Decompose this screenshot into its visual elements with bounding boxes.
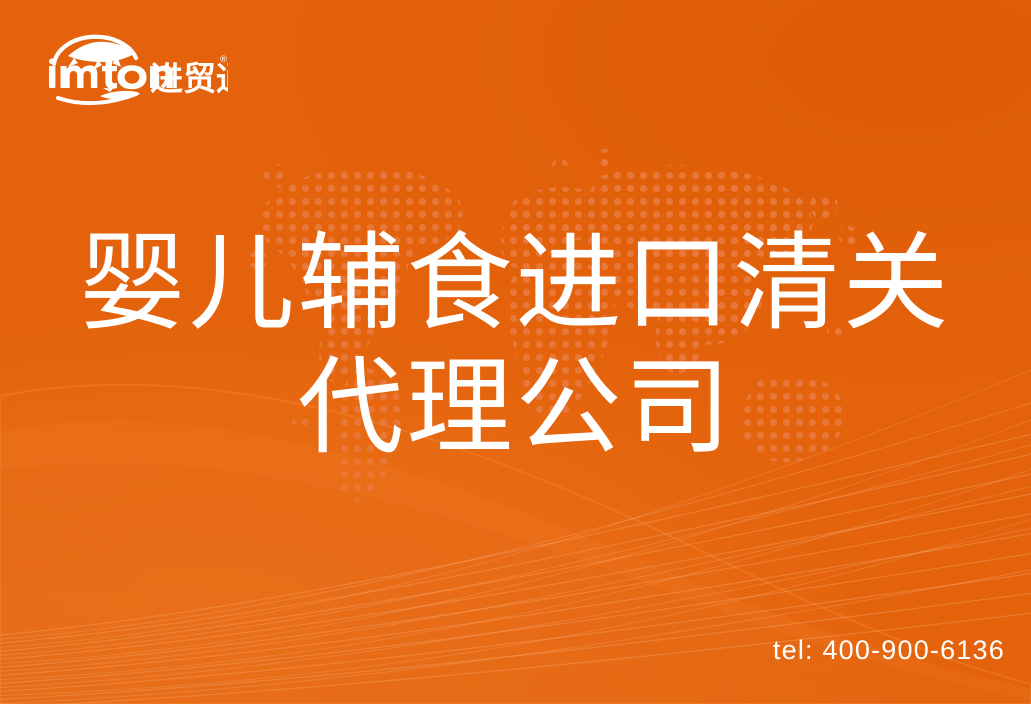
imton-logo[interactable]: 进贸通 ® bbox=[38, 28, 228, 106]
swoosh-icon bbox=[58, 88, 140, 103]
page-title: 婴儿辅食进口清关 代理公司 bbox=[0, 222, 1031, 470]
promo-banner: 进贸通 ® 婴儿辅食进口清关 代理公司 tel: 400-900-6136 bbox=[0, 0, 1031, 704]
globe-arc-icon bbox=[54, 37, 136, 70]
headline-line-1: 婴儿辅食进口清关 bbox=[0, 222, 1031, 346]
headline-line-2: 代理公司 bbox=[0, 346, 1031, 470]
registered-trademark-icon: ® bbox=[219, 55, 228, 65]
contact-phone[interactable]: tel: 400-900-6136 bbox=[773, 635, 1005, 666]
logo-chinese-name: 进贸通 bbox=[150, 59, 228, 98]
